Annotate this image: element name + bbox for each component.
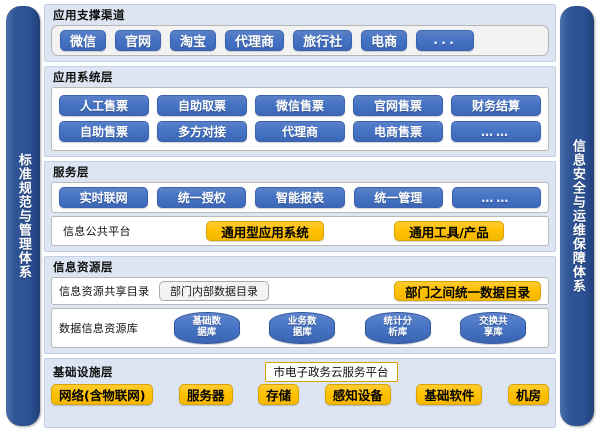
layer-information-resource-title: 信息资源层 [53,260,549,274]
service-platform-label: 信息公共平台 [59,223,173,239]
app-item-ecommerce-ticketing[interactable]: 电商售票 [353,121,443,142]
resource-database-panel: 数据信息资源库 基础数据库 业务数据库 统计分析库 交换共享库 [51,308,549,348]
database-cylinder-exchange-share[interactable]: 交换共享库 [460,312,526,344]
service-platform-panel: 信息公共平台 通用型应用系统 通用工具/产品 [51,216,549,246]
app-item-wechat-ticketing[interactable]: 微信售票 [255,95,345,116]
app-item-self-ticketing[interactable]: 自助售票 [59,121,149,142]
app-item-manual-ticketing[interactable]: 人工售票 [59,95,149,116]
layer-stack: 应用支撑渠道 微信 官网 淘宝 代理商 旅行社 电商 ... 应用系统层 人工售… [44,4,556,428]
app-item-financial-settlement[interactable]: 财务结算 [451,95,541,116]
app-item-website-ticketing[interactable]: 官网售票 [353,95,443,116]
service-capability-grid: 实时联网 统一授权 智能报表 统一管理 …… [59,187,541,208]
service-item-realtime-network[interactable]: 实时联网 [59,187,148,208]
general-tool-product-wrap: 通用工具/产品 [357,221,541,241]
sidebar-right-label: 信息安全与运维保障体系 [569,139,585,293]
service-item-unified-management[interactable]: 统一管理 [354,187,443,208]
infra-item-server[interactable]: 服务器 [179,384,233,405]
service-item-more[interactable]: …… [452,187,541,208]
sidebar-standards-management: 标准规范与管理体系 [6,6,40,426]
service-item-general-application-system[interactable]: 通用型应用系统 [206,221,324,241]
layer-channel-title: 应用支撑渠道 [53,8,549,22]
database-cylinder-group: 基础数据库 业务数据库 统计分析库 交换共享库 [159,312,541,344]
app-item-self-pickup[interactable]: 自助取票 [157,95,247,116]
database-cylinder-business[interactable]: 业务数据库 [269,312,335,344]
layer-application-system-title: 应用系统层 [53,70,549,84]
layer-channel: 应用支撑渠道 微信 官网 淘宝 代理商 旅行社 电商 ... [44,4,556,62]
channel-item-wechat[interactable]: 微信 [60,30,106,51]
resource-database-label: 数据信息资源库 [59,320,159,336]
app-item-agent[interactable]: 代理商 [255,121,345,142]
infrastructure-content: 基础设施层 市电子政务云服务平台 网络(含物联网) 服务器 存储 感知设备 基础… [51,362,549,405]
service-capability-panel: 实时联网 统一授权 智能报表 统一管理 …… [51,182,549,213]
cloud-platform-wrap: 市电子政务云服务平台 [113,362,549,382]
layer-application-system: 应用系统层 人工售票 自助取票 微信售票 官网售票 财务结算 自助售票 多方对接… [44,66,556,157]
service-item-general-tool-product[interactable]: 通用工具/产品 [394,221,504,241]
infra-item-network-iot[interactable]: 网络(含物联网) [51,384,153,405]
app-item-multiparty-docking[interactable]: 多方对接 [157,121,247,142]
infrastructure-cloud-platform[interactable]: 市电子政务云服务平台 [265,362,398,382]
infra-item-server-room[interactable]: 机房 [508,384,549,405]
channel-item-taobao[interactable]: 淘宝 [170,30,216,51]
resource-item-unified-catalog[interactable]: 部门之间统一数据目录 [394,281,541,301]
application-system-grid: 人工售票 自助取票 微信售票 官网售票 财务结算 自助售票 多方对接 代理商 电… [59,95,541,142]
database-cylinder-statistics[interactable]: 统计分析库 [365,312,431,344]
app-item-more[interactable]: …… [451,121,541,142]
service-platform-row: 信息公共平台 通用型应用系统 通用工具/产品 [59,221,541,241]
infrastructure-header: 基础设施层 市电子政务云服务平台 [51,362,549,382]
layer-service-title: 服务层 [53,165,549,179]
sidebar-left-label: 标准规范与管理体系 [15,153,31,279]
resource-catalog-panel: 信息资源共享目录 部门内部数据目录 部门之间统一数据目录 [51,277,549,305]
general-app-system-wrap: 通用型应用系统 [173,221,357,241]
service-item-smart-report[interactable]: 智能报表 [255,187,344,208]
channel-panel: 微信 官网 淘宝 代理商 旅行社 电商 ... [51,25,549,56]
application-system-panel: 人工售票 自助取票 微信售票 官网售票 财务结算 自助售票 多方对接 代理商 电… [51,87,549,151]
layer-information-resource: 信息资源层 信息资源共享目录 部门内部数据目录 部门之间统一数据目录 数据信息资… [44,256,556,354]
layer-infrastructure-title: 基础设施层 [53,365,113,379]
infra-item-storage[interactable]: 存储 [258,384,299,405]
channel-item-ecommerce[interactable]: 电商 [361,30,407,51]
resource-database-row: 数据信息资源库 基础数据库 业务数据库 统计分析库 交换共享库 [59,312,541,344]
infra-item-basic-software[interactable]: 基础软件 [416,384,482,405]
infra-item-sensing-device[interactable]: 感知设备 [325,384,391,405]
database-cylinder-basic[interactable]: 基础数据库 [174,312,240,344]
channel-item-agent[interactable]: 代理商 [225,30,284,51]
layer-infrastructure: 基础设施层 市电子政务云服务平台 网络(含物联网) 服务器 存储 感知设备 基础… [44,358,556,428]
architecture-diagram: 标准规范与管理体系 信息安全与运维保障体系 应用支撑渠道 微信 官网 淘宝 代理… [0,0,600,432]
resource-catalog-row: 信息资源共享目录 部门内部数据目录 部门之间统一数据目录 [59,281,541,301]
channel-item-travel-agency[interactable]: 旅行社 [293,30,352,51]
resource-catalog-label: 信息资源共享目录 [59,283,159,299]
resource-item-internal-catalog[interactable]: 部门内部数据目录 [159,281,269,301]
service-item-unified-authorization[interactable]: 统一授权 [157,187,246,208]
sidebar-security-operations: 信息安全与运维保障体系 [560,6,594,426]
channel-item-official-site[interactable]: 官网 [115,30,161,51]
channel-item-more[interactable]: ... [416,30,474,51]
infrastructure-items-row: 网络(含物联网) 服务器 存储 感知设备 基础软件 机房 [51,384,549,405]
layer-service: 服务层 实时联网 统一授权 智能报表 统一管理 …… 信息公共平台 通用型应用系… [44,161,556,252]
